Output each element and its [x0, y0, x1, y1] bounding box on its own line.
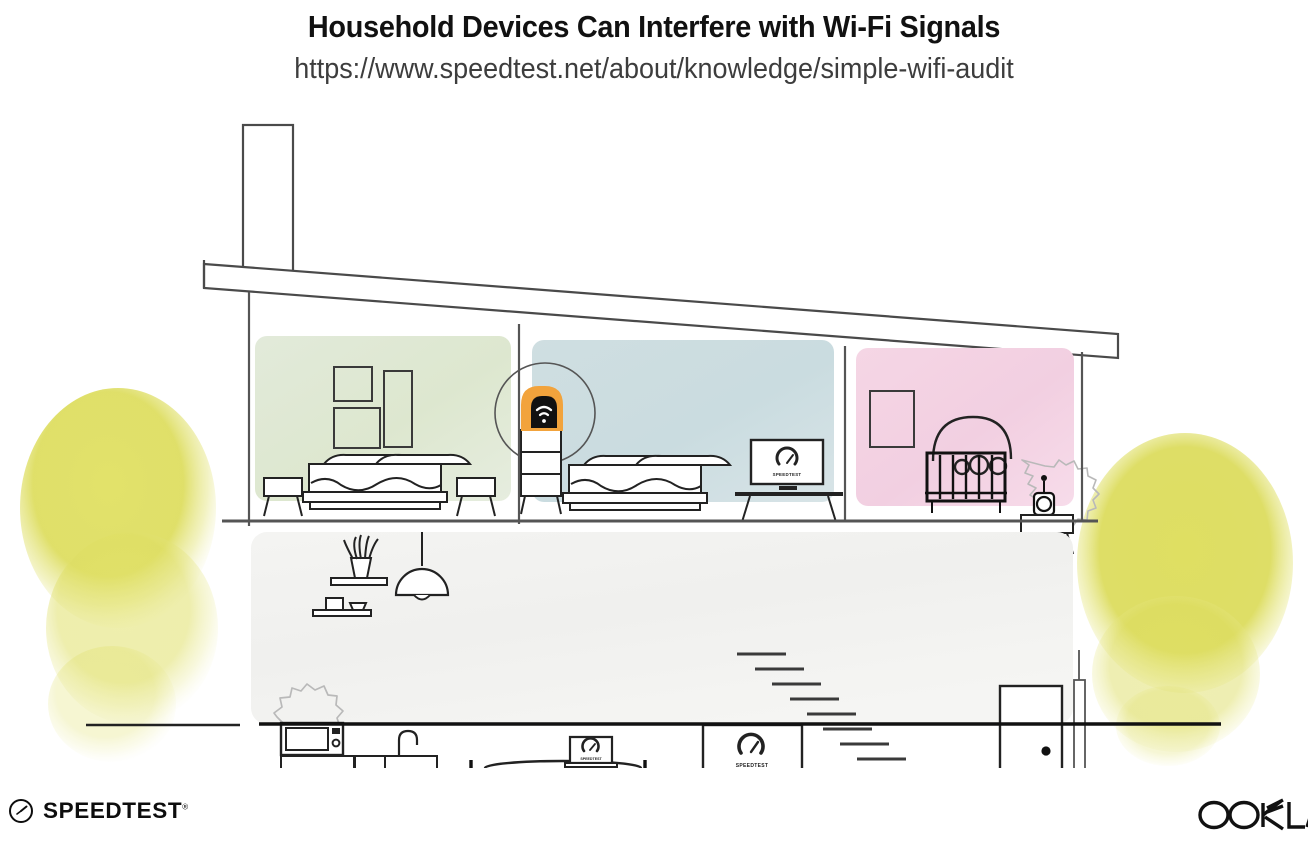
ookla-logo[interactable]: OOKLA: [1197, 798, 1308, 839]
tv-screen-label: SPEEDTEST: [736, 763, 768, 768]
source-url: https://www.speedtest.net/about/knowledg…: [46, 47, 1262, 87]
pillow-right: [376, 455, 470, 464]
front-door[interactable]: [988, 686, 1064, 768]
nursery-pink: [856, 348, 1099, 554]
computer-monitor[interactable]: SPEEDTEST: [751, 440, 823, 490]
ookla-wordmark-icon: [1197, 798, 1308, 832]
pillow-right: [636, 456, 730, 465]
narrow-window: [1074, 650, 1085, 768]
footer: SPEEDTEST® OOKLA: [0, 780, 1308, 861]
television[interactable]: SPEEDTEST: [703, 725, 802, 768]
microwave[interactable]: [281, 723, 343, 755]
infographic-canvas: Household Devices Can Interfere with Wi-…: [0, 0, 1308, 861]
speedtest-logo[interactable]: SPEEDTEST®: [8, 798, 189, 824]
wifi-router[interactable]: [522, 387, 562, 430]
ground-line: [86, 724, 1221, 725]
plate: [350, 603, 366, 610]
house-cutaway-svg: SPEEDTEST: [0, 108, 1308, 768]
header: Household Devices Can Interfere with Wi-…: [0, 0, 1308, 110]
speedtest-gauge-icon: [8, 798, 34, 824]
chimney: [243, 125, 293, 277]
door-knob[interactable]: [1041, 746, 1050, 755]
tree-left: [20, 388, 218, 762]
speedtest-wordmark: SPEEDTEST: [43, 798, 182, 823]
monitor-screen-label: SPEEDTEST: [773, 472, 802, 477]
speedtest-trademark: ®: [182, 803, 189, 812]
page-title: Household Devices Can Interfere with Wi-…: [46, 0, 1262, 47]
lower-floor: SPEEDTEST: [251, 532, 1085, 768]
bowl: [326, 598, 343, 610]
nightstand-right: [457, 478, 495, 516]
laptop-screen-label: SPEEDTEST: [580, 757, 602, 761]
laptop[interactable]: SPEEDTEST: [565, 737, 617, 767]
bedroom-green: [255, 336, 511, 516]
nightstand-left: [264, 478, 302, 516]
house-illustration: SPEEDTEST: [0, 108, 1308, 768]
sink-faucet: [399, 731, 417, 756]
bedroom-blue: SPEEDTEST: [495, 340, 843, 522]
tree-right: [1077, 433, 1293, 766]
